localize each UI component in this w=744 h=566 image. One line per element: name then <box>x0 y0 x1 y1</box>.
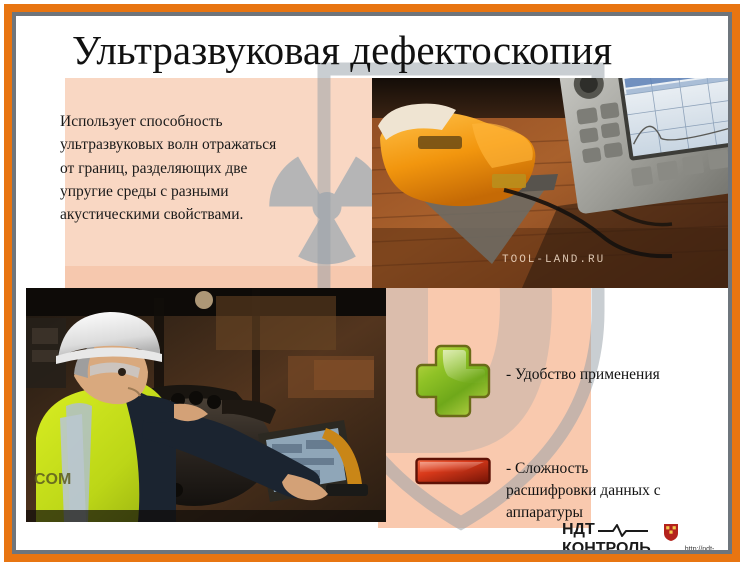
slide-canvas: OLYMPUS <box>16 16 728 550</box>
photo-watermark-text: TOOL-LAND.RU <box>502 254 605 266</box>
photo-glove-olympus-flaw-detector: OLYMPUS <box>372 78 728 288</box>
logo-line-ndt: НДТ <box>562 522 651 538</box>
red-minus-icon <box>414 456 492 491</box>
logo-website: http://ndt-control.ru <box>685 545 728 550</box>
shield-crest-icon <box>663 523 679 547</box>
logo-line-kontrol: КОНТРОЛЬ <box>562 541 651 550</box>
bullet-advantage-label: - Удобство применения <box>492 342 721 386</box>
page-title: Ультразвуковая дефектоскопия <box>72 28 722 72</box>
bullet-drawback: - Сложность расшифровки данных с аппарат… <box>414 456 684 524</box>
logo-contact-info: http://ndt-control.ru ndt-control@mail.r… <box>685 534 728 550</box>
green-plus-icon <box>414 342 492 425</box>
company-logo: НДТ КОНТРОЛЬ http:// <box>562 522 728 550</box>
ecg-pulse-icon <box>597 523 649 537</box>
bullet-drawback-label: - Сложность расшифровки данных с аппарат… <box>492 456 684 524</box>
bullet-advantage: - Удобство применения <box>414 342 721 425</box>
slide-root: OLYMPUS <box>0 0 744 566</box>
body-paragraph: Использует способность ультразвуковых во… <box>60 110 292 226</box>
logo-wordmark: НДТ КОНТРОЛЬ <box>562 522 651 550</box>
photo-inspector-at-pipe: COM <box>26 288 386 522</box>
svg-text:COM: COM <box>34 471 71 488</box>
